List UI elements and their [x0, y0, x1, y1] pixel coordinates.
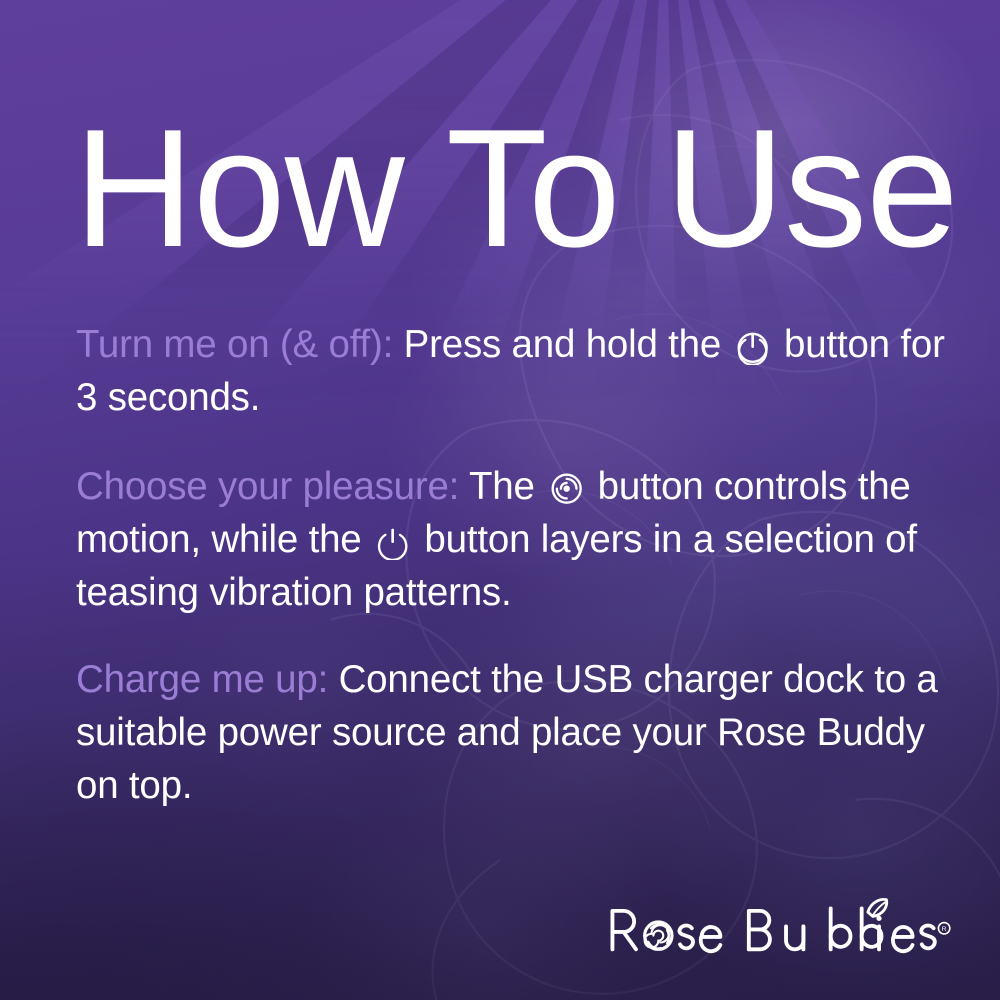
power-icon	[374, 523, 411, 560]
instruction-text-turn-on-a: Press and hold the	[393, 323, 731, 366]
instruction-item-charge: Charge me up: Connect the USB charger do…	[76, 653, 956, 812]
instruction-item-choose-pleasure: Choose your pleasure: The button control…	[76, 460, 956, 619]
content-layer: How To Use Turn me on (& off): Press and…	[0, 0, 1000, 1000]
instruction-text-choose-a: The	[459, 465, 545, 508]
page-title: How To Use	[74, 104, 958, 272]
instruction-lead-turn-on: Turn me on (& off):	[76, 323, 393, 366]
vibration-mode-icon	[548, 470, 585, 507]
rose-buddies-wordmark: R	[605, 896, 952, 958]
instruction-lead-charge: Charge me up:	[76, 658, 328, 701]
leaf-icon	[868, 899, 887, 916]
power-icon	[734, 328, 771, 365]
instructions-list: Turn me on (& off): Press and hold the b…	[76, 318, 956, 812]
instruction-lead-choose-pleasure: Choose your pleasure:	[76, 465, 459, 508]
svg-text:R: R	[941, 926, 946, 933]
brand-logo: Rose Buddies	[605, 896, 952, 958]
how-to-use-graphic: How To Use Turn me on (& off): Press and…	[0, 0, 1000, 1000]
instruction-item-turn-on: Turn me on (& off): Press and hold the b…	[76, 318, 956, 424]
registered-mark: R	[938, 923, 949, 934]
